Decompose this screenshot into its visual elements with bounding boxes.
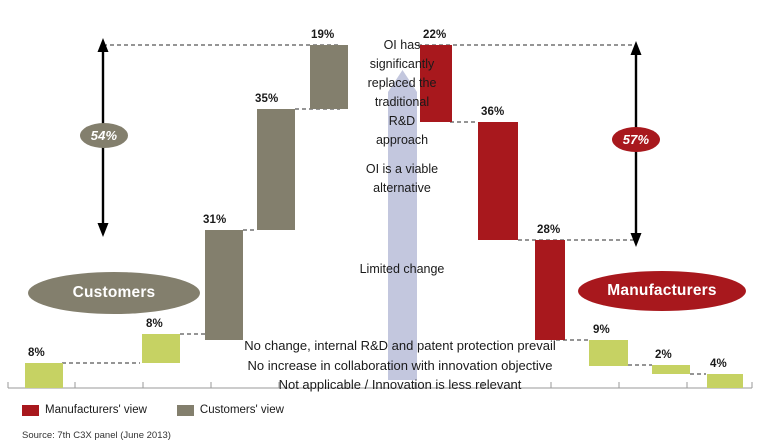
annotation-line: traditional <box>322 93 482 112</box>
bar-not-applicable-customers <box>25 363 63 388</box>
legend-item-manufacturers: Manufacturers' view <box>22 404 147 416</box>
annotation-line: R&D <box>322 112 482 131</box>
customers-total-badge: 54% <box>80 123 128 148</box>
annotation-line: Limited change <box>322 260 482 279</box>
bar-limited-change-manufacturers <box>535 240 565 340</box>
legend-label-manufacturers: Manufacturers' view <box>45 404 147 416</box>
category-label-no-increase: No increase in collaboration with innova… <box>220 358 580 373</box>
waterfall-chart: 8% 8% 31% 35% 19% 22% 36% 28% 9% 2% 4% 5… <box>0 0 760 446</box>
legend-item-customers: Customers' view <box>177 404 284 416</box>
annotation-oi-viable: OI is a viable alternative <box>322 160 482 198</box>
category-label-not-applicable: Not applicable / Innovation is less rele… <box>220 377 580 392</box>
bar-value-label: 8% <box>28 347 45 359</box>
annotation-line: OI is a viable <box>322 160 482 179</box>
source-note: Source: 7th C3X panel (June 2013) <box>22 430 171 441</box>
bar-no-change-manufacturers <box>589 340 628 366</box>
annotation-line: replaced the <box>322 74 482 93</box>
bar-no-increase-customers <box>142 334 180 363</box>
manufacturers-group-label: Manufacturers <box>578 271 746 311</box>
category-label-no-change: No change, internal R&D and patent prote… <box>220 338 580 353</box>
legend-label-customers: Customers' view <box>200 404 284 416</box>
annotation-oi-replaced: OI has significantly replaced the tradit… <box>322 36 482 150</box>
annotation-line: alternative <box>322 179 482 198</box>
customers-group-label: Customers <box>28 272 200 314</box>
bar-value-label: 36% <box>481 106 504 118</box>
legend-swatch-manufacturers-icon <box>22 405 39 416</box>
bar-value-label: 9% <box>593 324 610 336</box>
bar-value-label: 4% <box>710 358 727 370</box>
bar-oi-viable-manufacturers <box>478 122 518 240</box>
annotation-line: approach <box>322 131 482 150</box>
annotation-limited-change: Limited change <box>322 260 482 279</box>
legend: Manufacturers' view Customers' view <box>22 404 284 416</box>
annotation-line: OI has <box>322 36 482 55</box>
bar-no-increase-manufacturers <box>652 365 690 374</box>
bar-no-change-customers <box>205 230 243 340</box>
annotation-line: significantly <box>322 55 482 74</box>
legend-swatch-customers-icon <box>177 405 194 416</box>
bar-value-label: 28% <box>537 224 560 236</box>
bar-value-label: 35% <box>255 93 278 105</box>
bar-value-label: 2% <box>655 349 672 361</box>
bar-not-applicable-manufacturers <box>707 374 743 388</box>
bar-limited-change-customers <box>257 109 295 230</box>
manufacturers-total-badge: 57% <box>612 127 660 152</box>
bar-value-label: 31% <box>203 214 226 226</box>
bar-value-label: 8% <box>146 318 163 330</box>
